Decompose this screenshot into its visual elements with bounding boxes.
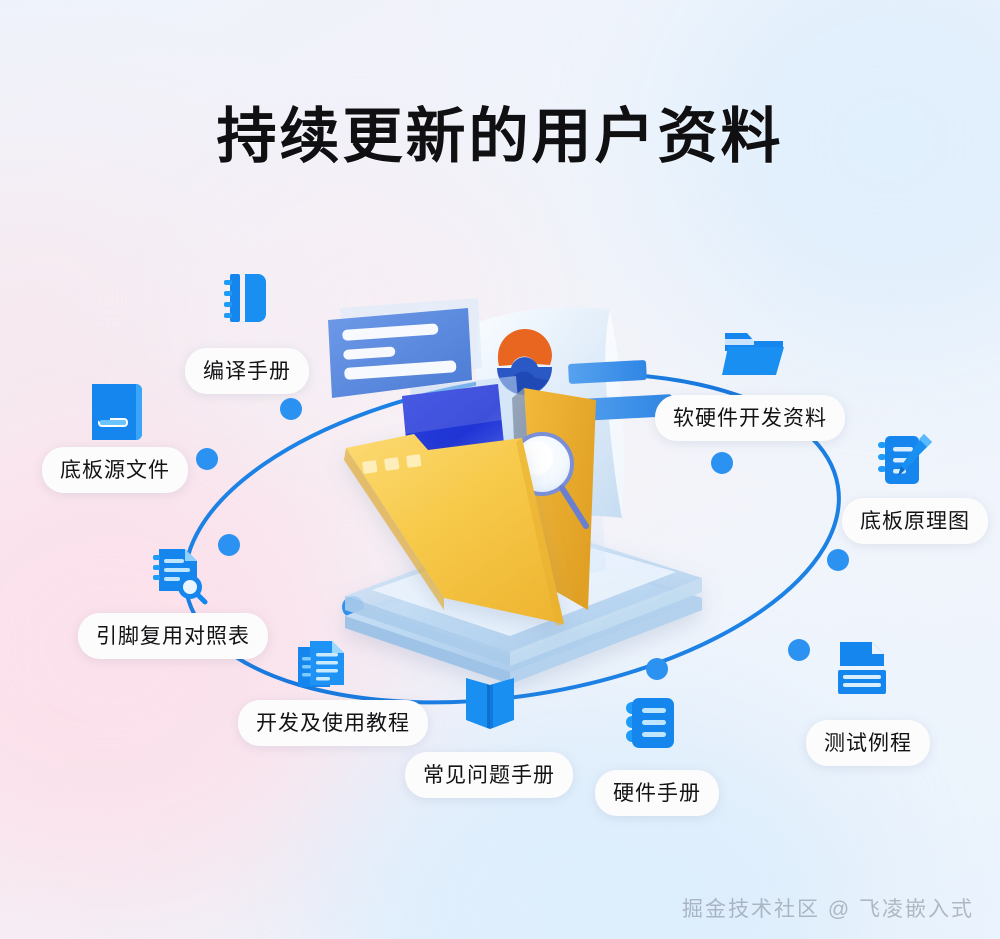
label-faq-manual[interactable]: 常见问题手册 xyxy=(405,752,573,798)
document-lines-icon xyxy=(832,638,894,700)
orbit-node-dot xyxy=(827,549,849,571)
label-hw-sw-development-materials[interactable]: 软硬件开发资料 xyxy=(655,395,845,441)
stacked-documents-icon xyxy=(292,637,354,699)
orbit-node-dot xyxy=(788,639,810,661)
notepad-pencil-icon xyxy=(872,428,936,492)
label-compile-manual[interactable]: 编译手册 xyxy=(185,348,309,394)
watermark: 掘金技术社区 @ 飞凌嵌入式 xyxy=(682,893,974,923)
label-pin-multiplexing-table[interactable]: 引脚复用对照表 xyxy=(78,613,268,659)
infographic-poster: 持续更新的用户资料 xyxy=(0,0,1000,939)
orbit-node-dot xyxy=(196,448,218,470)
page-title: 持续更新的用户资料 xyxy=(0,104,1000,170)
bound-notebook-icon xyxy=(622,692,684,754)
closed-book-icon xyxy=(82,376,154,448)
sheet-bar xyxy=(568,360,647,384)
open-folder-icon xyxy=(722,325,786,383)
orbit-node-dot xyxy=(280,398,302,420)
label-hardware-manual[interactable]: 硬件手册 xyxy=(595,770,719,816)
hero-illustration xyxy=(310,280,730,700)
label-baseboard-source-files[interactable]: 底板源文件 xyxy=(42,447,188,493)
label-baseboard-schematic[interactable]: 底板原理图 xyxy=(842,498,988,544)
orbit-node-dot xyxy=(218,534,240,556)
spiral-notebook-icon xyxy=(212,266,276,330)
open-book-icon xyxy=(462,672,518,732)
document-search-icon xyxy=(145,543,211,609)
label-test-routines[interactable]: 测试例程 xyxy=(806,720,930,766)
label-development-tutorials[interactable]: 开发及使用教程 xyxy=(238,700,428,746)
